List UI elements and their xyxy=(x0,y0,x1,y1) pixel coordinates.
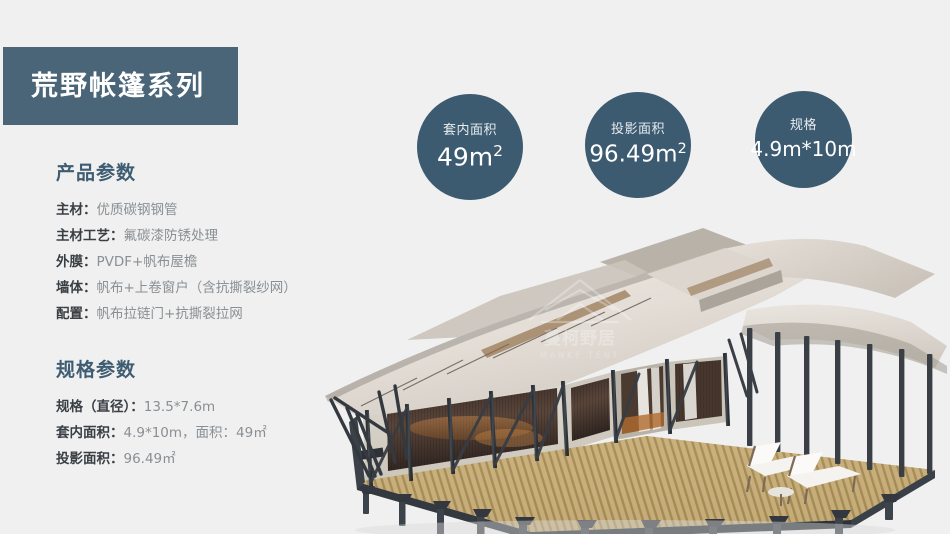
stat-label: 规格 xyxy=(790,119,817,133)
spec-value: 帆布+上卷窗户（含抗撕裂纱网） xyxy=(97,280,297,296)
spec-value: 优质碳钢钢管 xyxy=(97,202,178,218)
stat-label: 套内面积 xyxy=(443,124,497,138)
stat-circle-dimensions: 规格 4.9m*10m xyxy=(755,91,852,188)
stat-value-superscript: 2 xyxy=(493,142,503,160)
spec-value: 帆布拉链门+抗撕裂拉网 xyxy=(97,306,243,322)
title-banner: 荒野帐篷系列 xyxy=(3,47,238,125)
tent-render-image xyxy=(295,200,950,534)
stat-value-number: 96.49m xyxy=(589,142,677,168)
stat-value: 4.9m*10m xyxy=(750,139,856,160)
slide-root: 荒野帐篷系列 产品参数 主材：优质碳钢钢管 主材工艺：氟碳漆防锈处理 外膜：PV… xyxy=(0,0,950,534)
tent-illustration xyxy=(295,200,950,534)
stat-value: 96.49m2 xyxy=(589,142,686,167)
spec-label: 规格（直径）： xyxy=(56,399,144,415)
spec-label: 配置： xyxy=(56,306,97,322)
spec-value: 氟碳漆防锈处理 xyxy=(124,228,219,244)
stat-value-number: 4.9m*10m xyxy=(750,137,856,161)
spec-label: 主材工艺： xyxy=(56,228,124,244)
section-heading-product: 产品参数 xyxy=(56,162,356,185)
stat-circle-indoor-area: 套内面积 49m2 xyxy=(417,94,523,200)
stat-value-superscript: 2 xyxy=(678,141,687,157)
spec-label: 投影面积： xyxy=(56,451,124,467)
spec-label: 外膜： xyxy=(56,254,97,270)
stat-label: 投影面积 xyxy=(611,123,665,137)
spec-value: PVDF+帆布屋檐 xyxy=(97,254,198,270)
spec-value: 13.5*7.6m xyxy=(144,399,215,415)
page-title: 荒野帐篷系列 xyxy=(31,73,205,100)
spec-label: 主材： xyxy=(56,202,97,218)
stat-circle-projected-area: 投影面积 96.49m2 xyxy=(585,92,691,198)
stat-value: 49m2 xyxy=(437,143,503,171)
spec-label: 套内面积： xyxy=(56,425,124,441)
spec-value: 96.49㎡ xyxy=(124,451,176,467)
stat-value-number: 49m xyxy=(437,142,493,171)
spec-value: 4.9*10m，面积：49㎡ xyxy=(124,425,267,441)
spec-label: 墙体： xyxy=(56,280,97,296)
